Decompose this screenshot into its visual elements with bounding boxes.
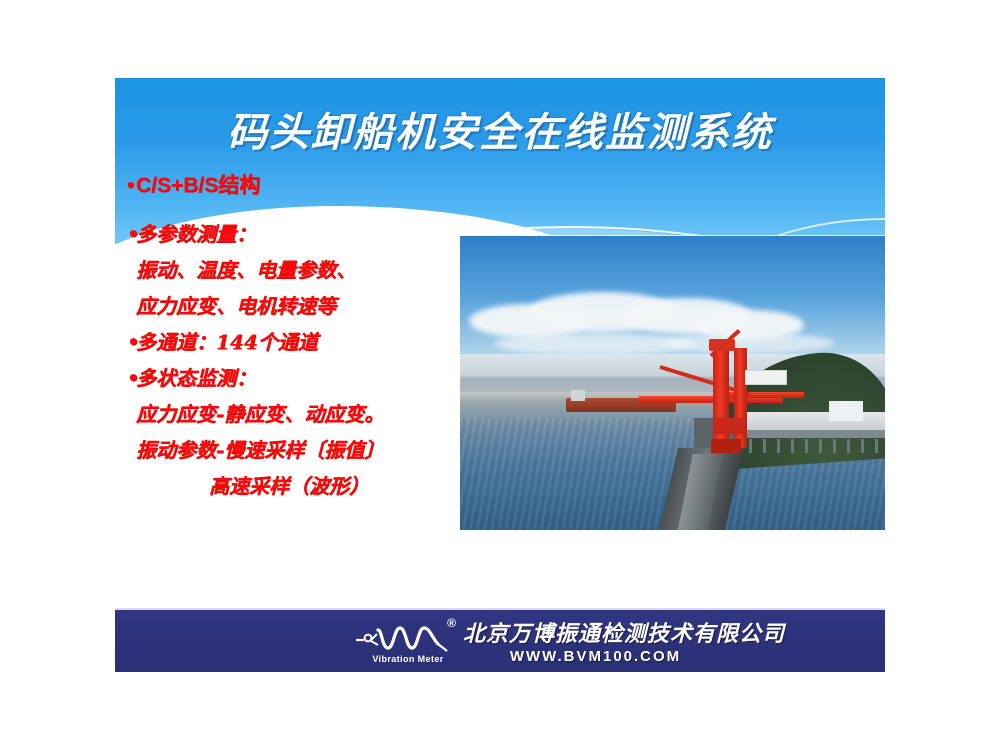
photo-cloud [664,333,834,353]
bullet-marker: • [127,168,136,204]
list-item-label: 高速采样（波形） [209,474,369,498]
photo-crane-head [709,339,735,351]
page-title: 码头卸船机安全在线监测系统 [115,100,885,158]
vibration-meter-logo-icon [352,618,460,658]
registered-trademark-icon: ® [447,616,456,630]
footer-bar: ® Vibration Meter 北京万博振通检测技术有限公司 WWW.BVM… [115,608,885,672]
list-item-label: 多参数测量： [136,222,256,246]
list-item: •C/S+B/S结构 [127,168,477,204]
list-item: •多状态监测： [127,360,477,396]
list-item-label: 振动、温度、电量参数、 [136,258,356,282]
list-item: 振动、温度、电量参数、 [127,252,477,288]
list-item: •多通道：144个通道 [127,324,477,360]
photo-silo [829,401,863,421]
logo-caption: Vibration Meter [358,654,458,664]
list-item-label: 应力应变、电机转速等 [136,294,336,318]
slide-photo [460,236,885,530]
photo-crane-cab [715,418,745,434]
list-item: 高速采样（波形） [127,468,477,504]
photo-crane-signboard [745,370,787,385]
bullet-marker: • [127,216,136,252]
list-item-label: C/S+B/S结构 [136,174,260,197]
list-item: 应力应变-静应变、动应变。 [127,396,477,432]
company-info: 北京万博振通检测技术有限公司 WWW.BVM100.COM [463,616,793,665]
list-item-label: 多通道：144个通道 [136,330,318,354]
photo-crane-machinery [711,439,741,453]
slide: 码头卸船机安全在线监测系统 •C/S+B/S结构 •多参数测量： 振动、温度、电… [115,78,885,672]
bullet-marker: • [127,324,136,360]
company-name: 北京万博振通检测技术有限公司 [463,616,793,648]
list-item: •多参数测量： [127,216,477,252]
list-item-label: 多状态监测： [136,366,256,390]
list-item: 振动参数-慢速采样〔振值〕 [127,432,477,468]
list-item-label: 应力应变-静应变、动应变。 [136,402,384,426]
company-website: WWW.BVM100.COM [463,648,728,665]
company-logo: ® Vibration Meter [352,618,460,666]
photo-barge-superstructure [571,390,585,401]
list-item-label: 振动参数-慢速采样〔振值〕 [136,438,384,462]
list-item: 应力应变、电机转速等 [127,288,477,324]
bullet-list: •C/S+B/S结构 •多参数测量： 振动、温度、电量参数、 应力应变、电机转速… [127,168,477,504]
bullet-marker: • [127,360,136,396]
